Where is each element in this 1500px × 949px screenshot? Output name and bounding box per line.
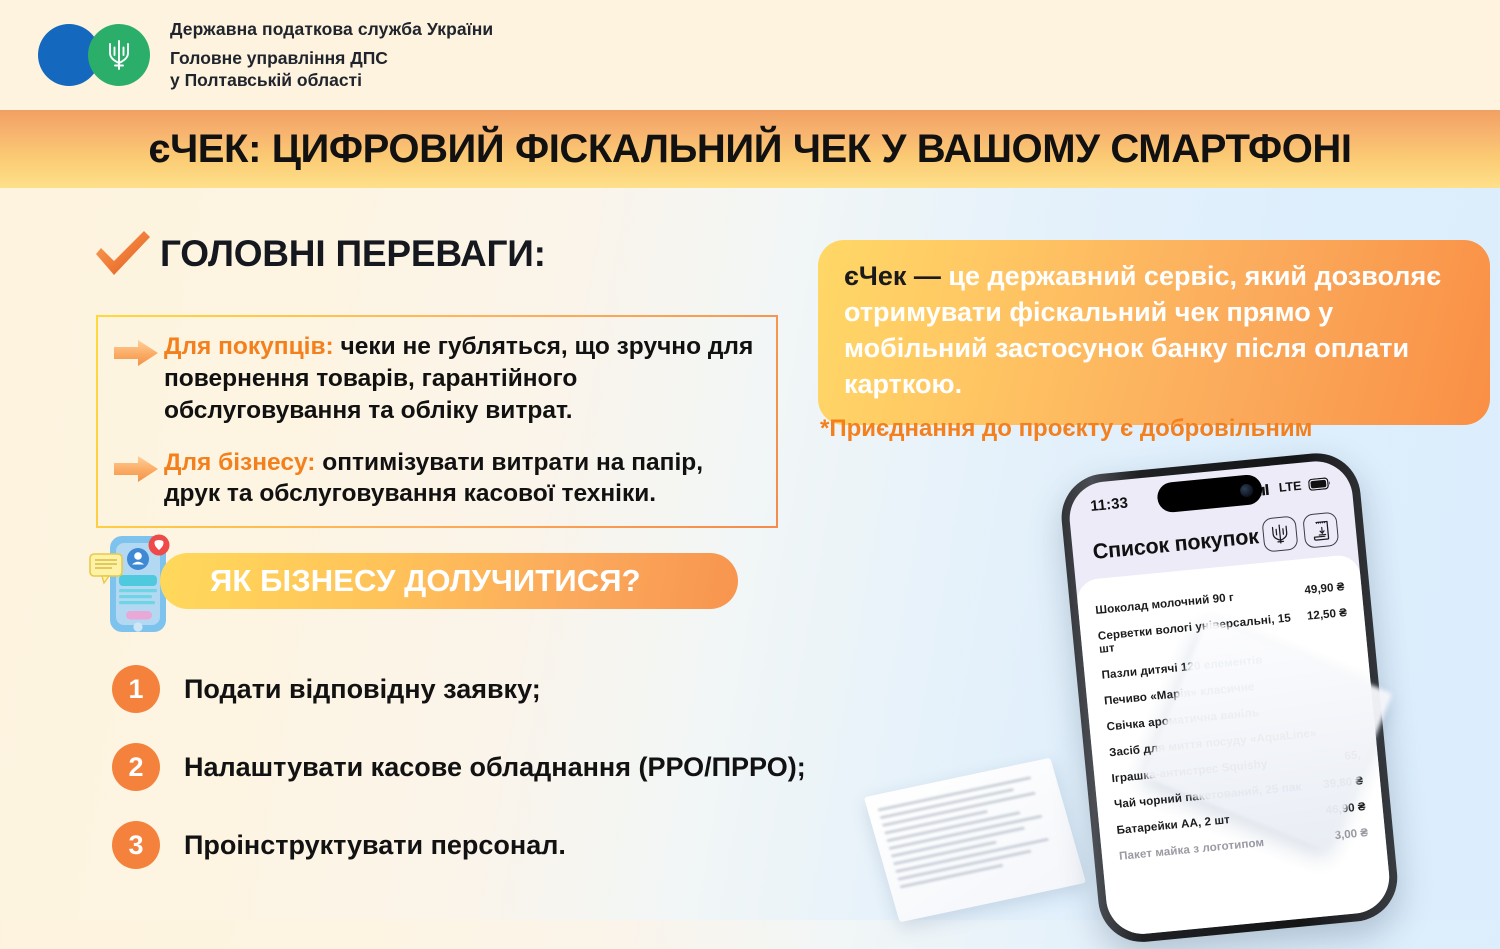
advantage-item-business: Для бізнесу: оптимізувати витрати на пап… [112, 447, 760, 511]
status-time: 11:33 [1090, 494, 1129, 515]
advantages-heading: ГОЛОВНІ ПЕРЕВАГИ: [160, 233, 546, 275]
step-text: Проінструктувати персонал. [184, 830, 566, 861]
receipt-lines [878, 773, 1068, 888]
advantage-text-business: Для бізнесу: оптимізувати витрати на пап… [164, 447, 760, 511]
page-title: єЧЕК: ЦИФРОВИЙ ФІСКАЛЬНИЙ ЧЕК У ВАШОМУ С… [148, 127, 1351, 172]
step-number-badge: 2 [112, 743, 160, 791]
step-text: Подати відповідну заявку; [184, 674, 541, 705]
step-number-badge: 3 [112, 821, 160, 869]
title-banner: єЧЕК: ЦИФРОВИЙ ФІСКАЛЬНИЙ ЧЕК У ВАШОМУ С… [0, 110, 1500, 188]
howto-banner-title: ЯК БІЗНЕСУ ДОЛУЧИТИСЯ? [210, 563, 641, 599]
org-line-2a: Головне управління ДПС [170, 48, 388, 68]
service-description-callout: єЧек — це державний сервіс, який дозволя… [818, 240, 1490, 425]
trident-emblem-button[interactable] [1261, 515, 1298, 552]
arrow-right-icon [112, 453, 160, 485]
app-title: Список покупок [1092, 524, 1260, 565]
step-item: 2 Налаштувати касове обладнання (РРО/ПРР… [112, 728, 932, 806]
dps-logo [38, 24, 150, 86]
advantage-item-buyers: Для покупців: чеки не губляться, що зруч… [112, 331, 760, 427]
step-item: 3 Проінструктувати персонал. [112, 806, 932, 884]
app-header-buttons [1261, 512, 1339, 553]
advantage-text-buyers: Для покупців: чеки не губляться, що зруч… [164, 331, 760, 427]
callout-strong: єЧек — [844, 261, 948, 291]
arrow-right-icon [112, 337, 160, 369]
page-header: Державна податкова служба України Головн… [0, 0, 1500, 110]
advantages-box: Для покупців: чеки не губляться, що зруч… [96, 315, 778, 528]
battery-icon [1308, 477, 1332, 491]
front-camera-icon [1240, 483, 1254, 497]
advantage-lead-buyers: Для покупців: [164, 333, 334, 360]
callout-paragraph: єЧек — це державний сервіс, який дозволя… [844, 259, 1464, 403]
item-price: 49,90 ₴ [1304, 580, 1345, 597]
checkmark-icon [92, 228, 154, 280]
advantages-heading-row: ГОЛОВНІ ПЕРЕВАГИ: [92, 228, 546, 280]
network-type-label: LTE [1278, 479, 1302, 495]
step-number-badge: 1 [112, 665, 160, 713]
step-item: 1 Подати відповідну заявку; [112, 650, 932, 728]
steps-list: 1 Подати відповідну заявку; 2 Налаштуват… [112, 650, 932, 884]
status-indicators: LTE [1254, 476, 1332, 497]
advantage-lead-business: Для бізнесу: [164, 449, 315, 476]
org-line-2b: у Полтавській області [170, 70, 362, 90]
dynamic-island [1156, 474, 1263, 514]
org-name-block: Державна податкова служба України Головн… [170, 19, 493, 92]
howto-banner: ЯК БІЗНЕСУ ДОЛУЧИТИСЯ? [160, 553, 738, 609]
step-text: Налаштувати касове обладнання (РРО/ПРРО)… [184, 752, 806, 783]
org-line-2: Головне управління ДПС у Полтавській обл… [170, 47, 493, 92]
trident-icon [88, 24, 150, 86]
item-price: 3,00 ₴ [1334, 825, 1369, 841]
voluntary-note: *Приєднання до проєкту є добровільним [820, 415, 1500, 443]
receipt-button[interactable] [1302, 512, 1339, 549]
org-line-1: Державна податкова служба України [170, 19, 493, 40]
item-price: 12,50 ₴ [1306, 606, 1347, 623]
